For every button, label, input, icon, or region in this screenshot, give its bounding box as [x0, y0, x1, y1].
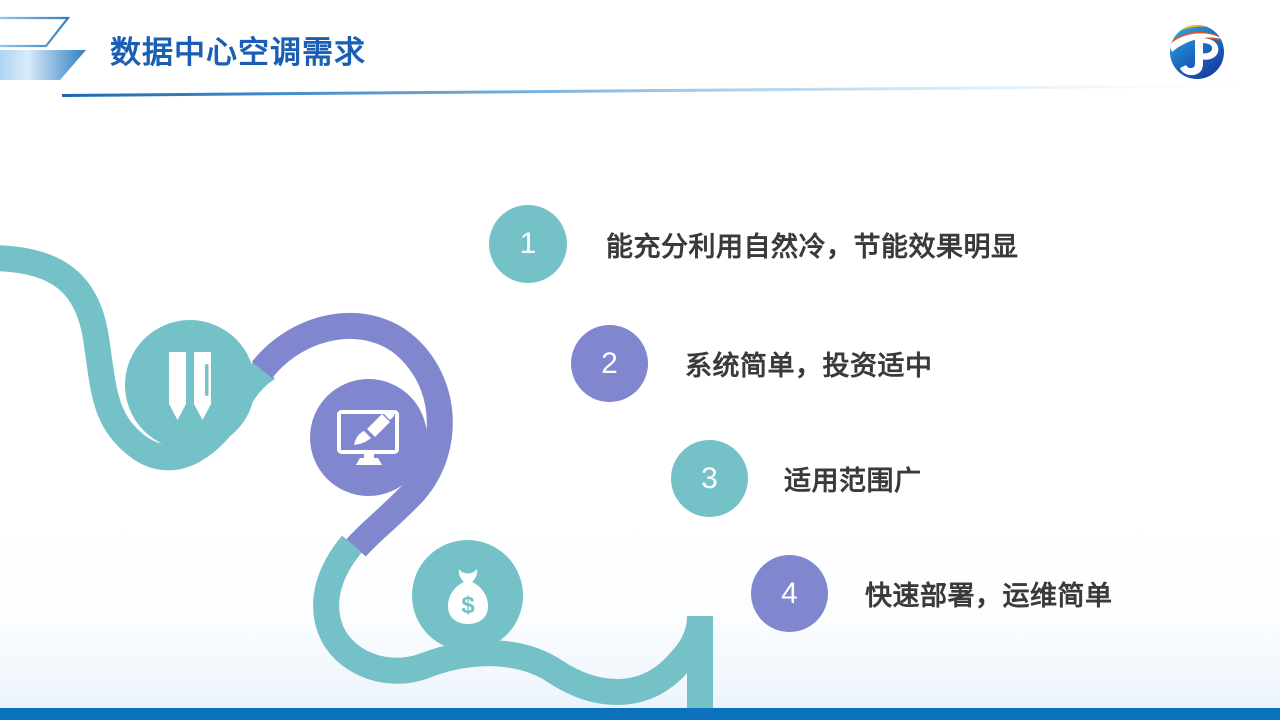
- bullet-number-4: 4: [751, 555, 828, 632]
- slide-header: 数据中心空调需求: [0, 0, 1280, 100]
- monitor-pencil-icon: [336, 408, 402, 468]
- slide-canvas: 数据中心空调需求: [0, 0, 1280, 720]
- bullet-text-2: 系统简单，投资适中: [685, 344, 933, 383]
- company-logo: [1158, 22, 1236, 82]
- svg-text:$: $: [461, 592, 475, 619]
- header-underline: [0, 72, 1280, 100]
- money-bag-icon-circle: $: [412, 540, 523, 651]
- bullet-text-3: 适用范围广: [784, 459, 922, 498]
- money-bag-icon: $: [440, 565, 496, 627]
- monitor-icon-circle: [310, 379, 427, 496]
- pens-icon: [159, 346, 221, 424]
- bullet-item-1[interactable]: 1 能充分利用自然冷，节能效果明显: [489, 205, 1019, 283]
- bullet-item-4[interactable]: 4 快速部署，运维简单: [751, 555, 1113, 632]
- page-title: 数据中心空调需求: [110, 34, 366, 72]
- pens-icon-circle: [125, 320, 255, 450]
- bullet-item-2[interactable]: 2 系统简单，投资适中: [571, 325, 933, 402]
- bullet-number-3: 3: [671, 440, 748, 517]
- bullet-number-2: 2: [571, 325, 648, 402]
- bottom-accent-bar: [0, 708, 1280, 720]
- bullet-number-1: 1: [489, 205, 567, 283]
- bullet-text-4: 快速部署，运维简单: [865, 574, 1113, 613]
- bullet-text-1: 能充分利用自然冷，节能效果明显: [606, 225, 1019, 264]
- bullet-item-3[interactable]: 3 适用范围广: [671, 440, 922, 517]
